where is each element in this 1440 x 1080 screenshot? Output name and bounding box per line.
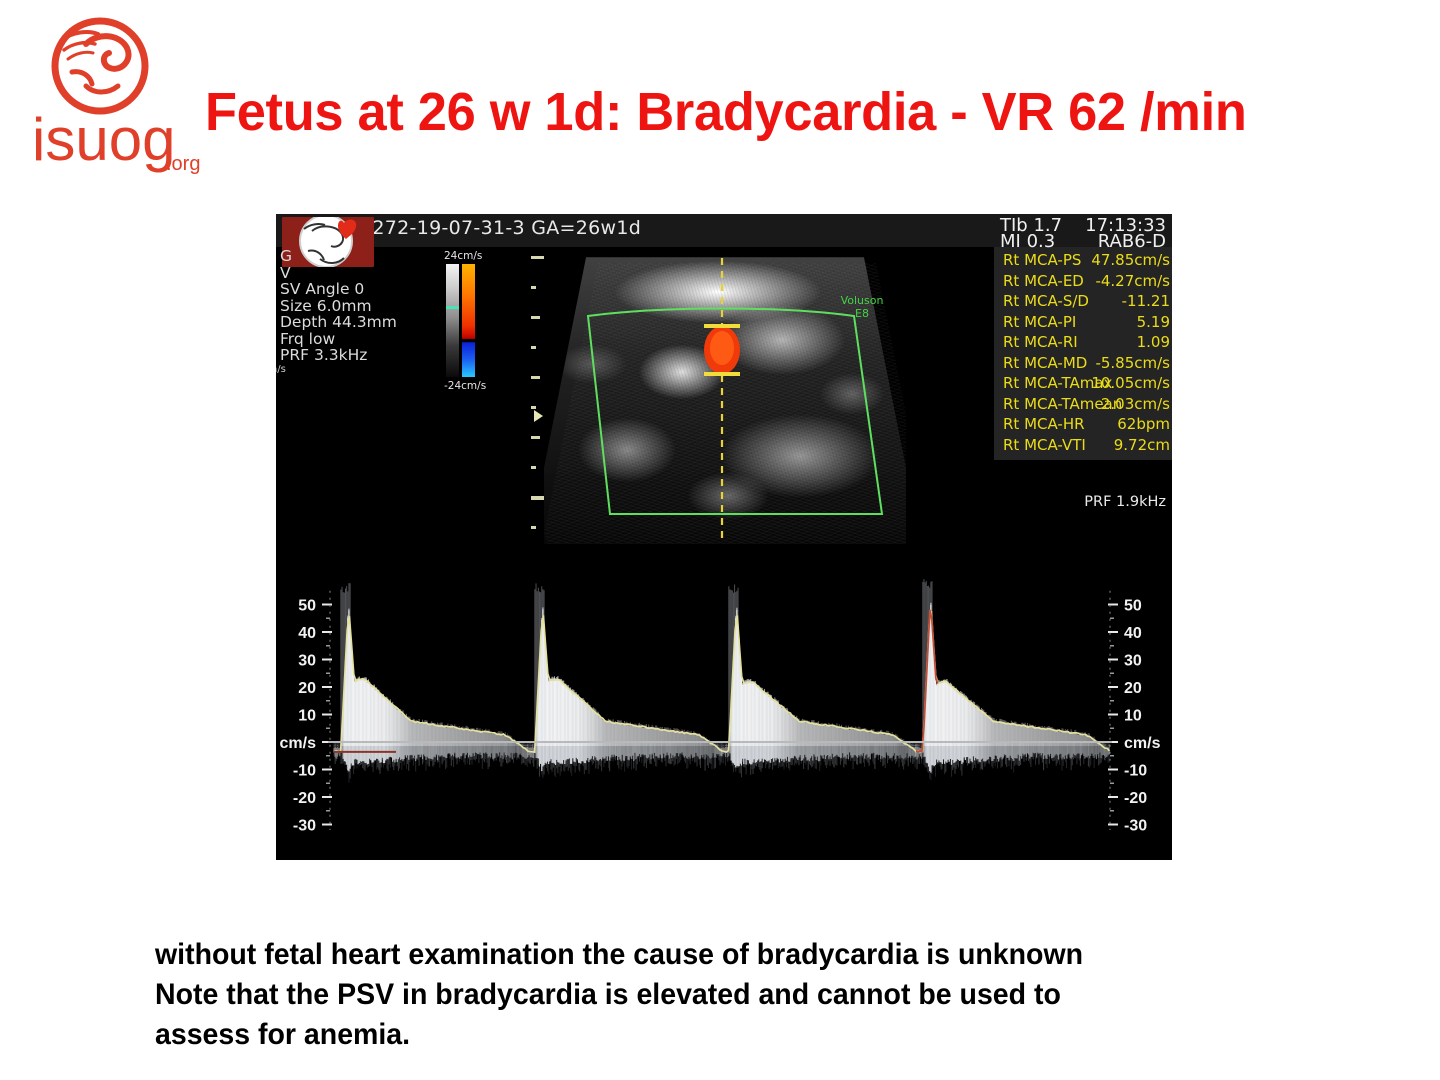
meas-value: 9.72cm — [1114, 436, 1170, 454]
y-axis-tick-right: 40 — [1124, 625, 1142, 642]
patient-id-text: 5272-19-07-31-3 GA=26w1d — [360, 217, 641, 239]
logo-suffix: .org — [166, 153, 200, 175]
y-axis-tick-left: -20 — [293, 790, 316, 807]
y-axis-tick-right: 30 — [1124, 653, 1142, 670]
y-axis-tick-left: 50 — [298, 598, 316, 615]
measurement-row: Rt MCA-TAmean 2.03cm/s — [994, 395, 1172, 416]
measurement-row: Rt MCA-PI 5.19 — [994, 313, 1172, 334]
focus-marker-icon — [534, 410, 543, 422]
meas-label: Rt MCA-PI — [1003, 313, 1076, 331]
y-axis-tick-right: -10 — [1124, 763, 1147, 780]
param-g: G — [280, 248, 397, 265]
ultrasound-parameters: G V SV Angle 0 Size 6.0mm Depth 44.3mm F… — [280, 248, 397, 364]
measurement-row: Rt MCA-S/D -11.21 — [994, 292, 1172, 313]
mi-label-value: MI 0.3 — [1000, 231, 1055, 252]
measurement-row: Rt MCA-VTI 9.72cm — [994, 436, 1172, 457]
y-axis-tick-left: -30 — [293, 818, 316, 835]
measurement-row: Rt MCA-RI 1.09 — [994, 333, 1172, 354]
caption-line-1: without fetal heart examination the caus… — [155, 935, 1314, 975]
meas-value: 10.05cm/s — [1091, 374, 1170, 392]
slide-title: Fetus at 26 w 1d: Bradycardia - VR 62 /m… — [205, 76, 1350, 148]
machine-name: Voluson — [841, 294, 884, 307]
y-axis-tick-left: cm/s — [280, 735, 317, 752]
colorbar-baseline-marker — [446, 306, 459, 309]
spectral-cloud — [334, 579, 1109, 783]
y-axis-tick-left: 10 — [298, 708, 316, 725]
meas-label: Rt MCA-HR — [1003, 415, 1085, 433]
meas-value: 1.09 — [1137, 333, 1170, 351]
measurement-row: Rt MCA-MD -5.85cm/s — [994, 354, 1172, 375]
y-axis-tick-left: 40 — [298, 625, 316, 642]
meas-value: -11.21 — [1122, 292, 1170, 310]
meas-value: 2.03cm/s — [1101, 395, 1170, 413]
meas-label: Rt MCA-MD — [1003, 354, 1087, 372]
machine-model: E8 — [855, 307, 869, 320]
y-axis-tick-right: 10 — [1124, 708, 1142, 725]
caption-line-2: Note that the PSV in bradycardia is elev… — [155, 975, 1314, 1015]
ruler-unit-label: cm/s — [276, 364, 286, 375]
y-axis-tick-right: -30 — [1124, 818, 1147, 835]
measurement-row: Rt MCA-TAmax 10.05cm/s — [994, 374, 1172, 395]
meas-label: Rt MCA-RI — [1003, 333, 1078, 351]
meas-label: Rt MCA-PS — [1003, 251, 1081, 269]
param-v: V — [280, 265, 397, 282]
y-axis-tick-left: 20 — [298, 680, 316, 697]
meas-value: 62bpm — [1117, 415, 1170, 433]
meas-value: 47.85cm/s — [1091, 251, 1170, 269]
colorbar-max-label: 24cm/s — [444, 250, 514, 262]
param-size: Size 6.0mm — [280, 298, 397, 315]
meas-value: 5.19 — [1137, 313, 1170, 331]
meas-label: Rt MCA-S/D — [1003, 292, 1089, 310]
param-depth: Depth 44.3mm — [280, 314, 397, 331]
y-axis-tick-right: cm/s — [1124, 735, 1161, 752]
y-axis-tick-left: -10 — [293, 763, 316, 780]
param-frq: Frq low — [280, 331, 397, 348]
caption-line-3: assess for anemia. — [155, 1015, 1314, 1055]
machine-label: Voluson E8 — [832, 294, 892, 320]
probe-label: RAB6-D — [1098, 231, 1166, 252]
depth-ruler — [528, 250, 542, 550]
spectral-doppler-plot: 50504040303020201010cm/scm/s-10-10-20-20… — [276, 544, 1172, 860]
colorbar-velocity-ramp — [462, 264, 475, 377]
slide-caption: without fetal heart examination the caus… — [155, 935, 1314, 1055]
meas-value: -5.85cm/s — [1095, 354, 1170, 372]
measurement-panel: TIb 1.7 17:13:33 MI 0.3 RAB6-D Rt MCA-PS… — [994, 247, 1172, 460]
meas-value: -4.27cm/s — [1095, 272, 1170, 290]
measurement-row: Rt MCA-ED -4.27cm/s — [994, 272, 1172, 293]
bmode-sector-image: Voluson E8 — [544, 250, 906, 560]
y-axis-tick-right: 20 — [1124, 680, 1142, 697]
param-prf: PRF 3.3kHz — [280, 347, 397, 364]
color-doppler-scale: 24cm/s -24cm/s — [444, 250, 514, 415]
isuog-logo: isuog .org — [28, 14, 208, 179]
logo-wordmark: isuog — [32, 106, 175, 173]
ultrasound-image: 5272-19-07-31-3 GA=26w1d G V SV Angle 0 … — [276, 214, 1172, 860]
measurement-row: Rt MCA-PS 47.85cm/s — [994, 251, 1172, 272]
measurement-row: Rt MCA-HR 62bpm — [994, 415, 1172, 436]
meas-label: Rt MCA-ED — [1003, 272, 1084, 290]
y-axis-tick-right: -20 — [1124, 790, 1147, 807]
spectral-prf-label: PRF 1.9kHz — [1084, 494, 1166, 510]
param-sv-angle: SV Angle 0 — [280, 281, 397, 298]
meas-label: Rt MCA-VTI — [1003, 436, 1086, 454]
spectral-waveform-svg: 50504040303020201010cm/scm/s-10-10-20-20… — [276, 544, 1172, 860]
colorbar-min-label: -24cm/s — [444, 380, 514, 392]
y-axis-tick-right: 50 — [1124, 598, 1142, 615]
colorbar-gray-ramp — [446, 264, 459, 377]
y-axis-tick-left: 30 — [298, 653, 316, 670]
